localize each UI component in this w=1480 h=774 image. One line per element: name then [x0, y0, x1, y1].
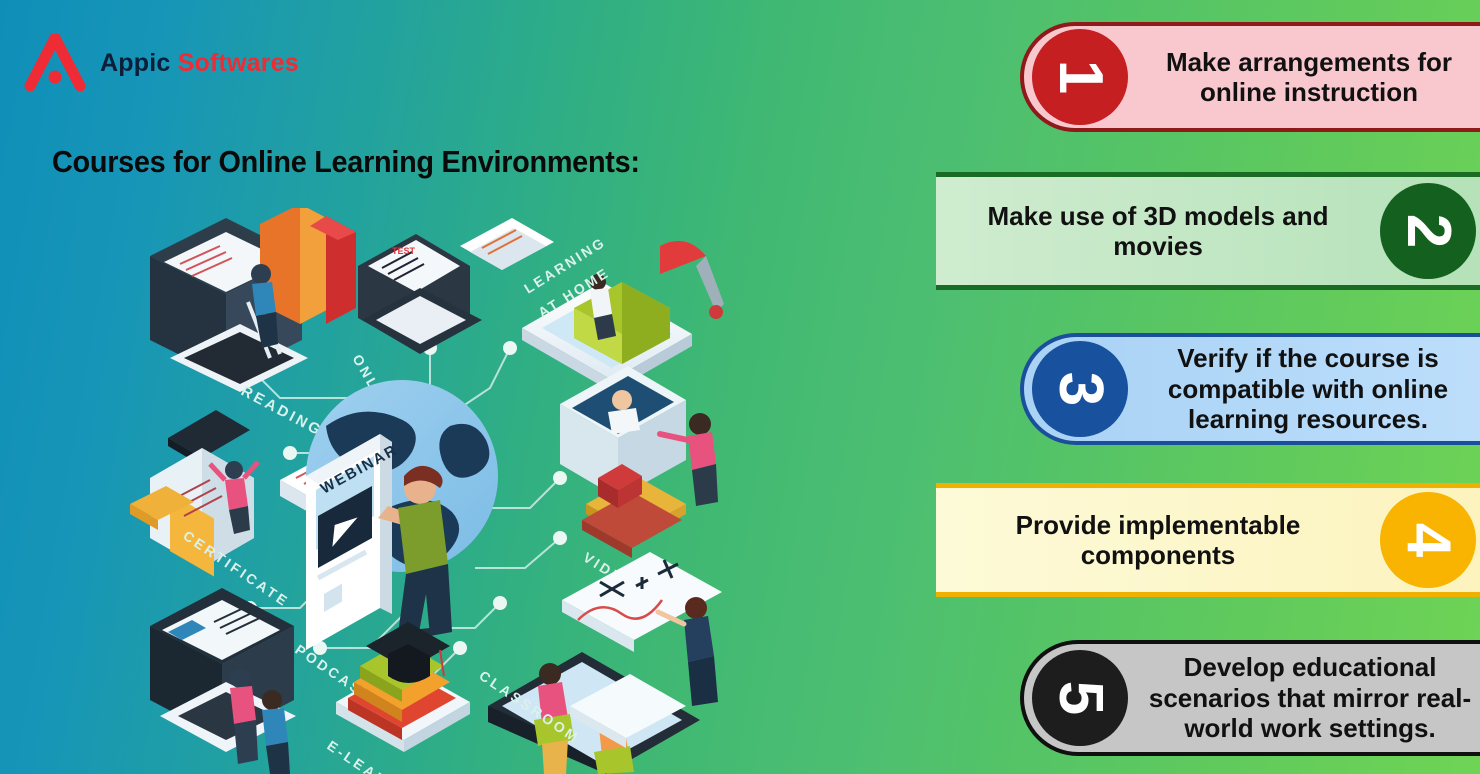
step-number-3: 3: [1049, 372, 1111, 406]
step-card-1[interactable]: 1 Make arrangements for online instructi…: [1020, 22, 1480, 132]
brand-name: Appic Softwares: [100, 49, 299, 78]
brand-name-part2: Softwares: [178, 49, 299, 77]
online-learning-illustration: READING TEST ONLINE TEST: [130, 208, 750, 774]
step-text-3: Verify if the course is compatible with …: [1128, 343, 1480, 434]
step-number-5: 5: [1049, 681, 1111, 715]
illustration-label-reading: READING: [238, 383, 326, 440]
step-text-1: Make arrangements for online instruction: [1128, 47, 1480, 108]
step-number-badge-4: 4: [1380, 492, 1476, 588]
step-number-4: 4: [1397, 523, 1459, 557]
appic-a-logo-icon: [24, 34, 86, 92]
step-number-2: 2: [1397, 214, 1459, 248]
step-number-badge-2: 2: [1380, 183, 1476, 279]
step-card-3[interactable]: 3 Verify if the course is compatible wit…: [1020, 333, 1480, 445]
page-title: Courses for Online Learning Environments…: [52, 144, 640, 180]
step-number-badge-1: 1: [1032, 29, 1128, 125]
step-text-5: Develop educational scenarios that mirro…: [1128, 652, 1480, 743]
step-number-badge-5: 5: [1032, 650, 1128, 746]
step-card-2[interactable]: Make use of 3D models and movies 2: [936, 172, 1480, 290]
step-text-4: Provide implementable components: [936, 510, 1380, 571]
step-number-1: 1: [1049, 60, 1111, 94]
brand-logo: Appic Softwares: [24, 34, 299, 92]
svg-text:TEST: TEST: [392, 246, 416, 256]
step-card-4[interactable]: Provide implementable components 4: [936, 483, 1480, 597]
step-card-5[interactable]: 5 Develop educational scenarios that mir…: [1020, 640, 1480, 756]
brand-name-part1: Appic: [100, 49, 170, 77]
step-text-2: Make use of 3D models and movies: [936, 201, 1380, 262]
step-number-badge-3: 3: [1032, 341, 1128, 437]
